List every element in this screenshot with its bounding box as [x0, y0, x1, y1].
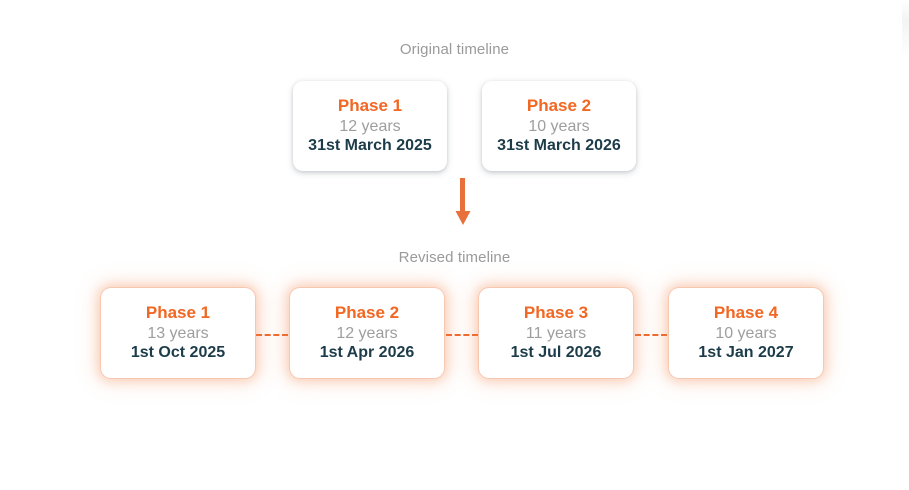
phase-duration: 10 years — [715, 325, 776, 343]
phase-duration: 12 years — [339, 118, 400, 136]
revised-phase-card-4[interactable]: Phase 4 10 years 1st Jan 2027 — [669, 288, 823, 378]
phase-date: 1st Apr 2026 — [320, 344, 415, 362]
connector-2-3 — [446, 334, 478, 336]
arrow-down-icon — [448, 178, 478, 228]
original-timeline-row: Phase 1 12 years 31st March 2025 Phase 2… — [0, 81, 909, 177]
phase-date: 1st Jul 2026 — [511, 344, 602, 362]
revised-timeline-row: Phase 1 13 years 1st Oct 2025 Phase 2 12… — [0, 288, 909, 384]
phase-date: 31st March 2025 — [308, 137, 432, 155]
phase-title: Phase 1 — [146, 304, 210, 322]
phase-title: Phase 2 — [335, 304, 399, 322]
timeline-diagram: Original timeline Phase 1 12 years 31st … — [0, 0, 909, 490]
phase-date: 1st Oct 2025 — [131, 344, 225, 362]
phase-duration: 12 years — [336, 325, 397, 343]
phase-title: Phase 2 — [527, 97, 591, 115]
original-phase-card-1[interactable]: Phase 1 12 years 31st March 2025 — [293, 81, 447, 171]
connector-1-2 — [256, 334, 288, 336]
connector-3-4 — [635, 334, 667, 336]
phase-date: 1st Jan 2027 — [698, 344, 793, 362]
phase-title: Phase 3 — [524, 304, 588, 322]
phase-title: Phase 1 — [338, 97, 402, 115]
phase-date: 31st March 2026 — [497, 137, 621, 155]
original-phase-card-2[interactable]: Phase 2 10 years 31st March 2026 — [482, 81, 636, 171]
revised-phase-card-3[interactable]: Phase 3 11 years 1st Jul 2026 — [479, 288, 633, 378]
revised-timeline-caption: Revised timeline — [0, 249, 909, 266]
original-timeline-caption: Original timeline — [0, 41, 909, 58]
phase-duration: 13 years — [147, 325, 208, 343]
scrollbar-artifact — [902, 0, 909, 58]
phase-duration: 10 years — [528, 118, 589, 136]
phase-duration: 11 years — [526, 325, 586, 343]
revised-phase-card-1[interactable]: Phase 1 13 years 1st Oct 2025 — [101, 288, 255, 378]
revised-phase-card-2[interactable]: Phase 2 12 years 1st Apr 2026 — [290, 288, 444, 378]
phase-title: Phase 4 — [714, 304, 778, 322]
